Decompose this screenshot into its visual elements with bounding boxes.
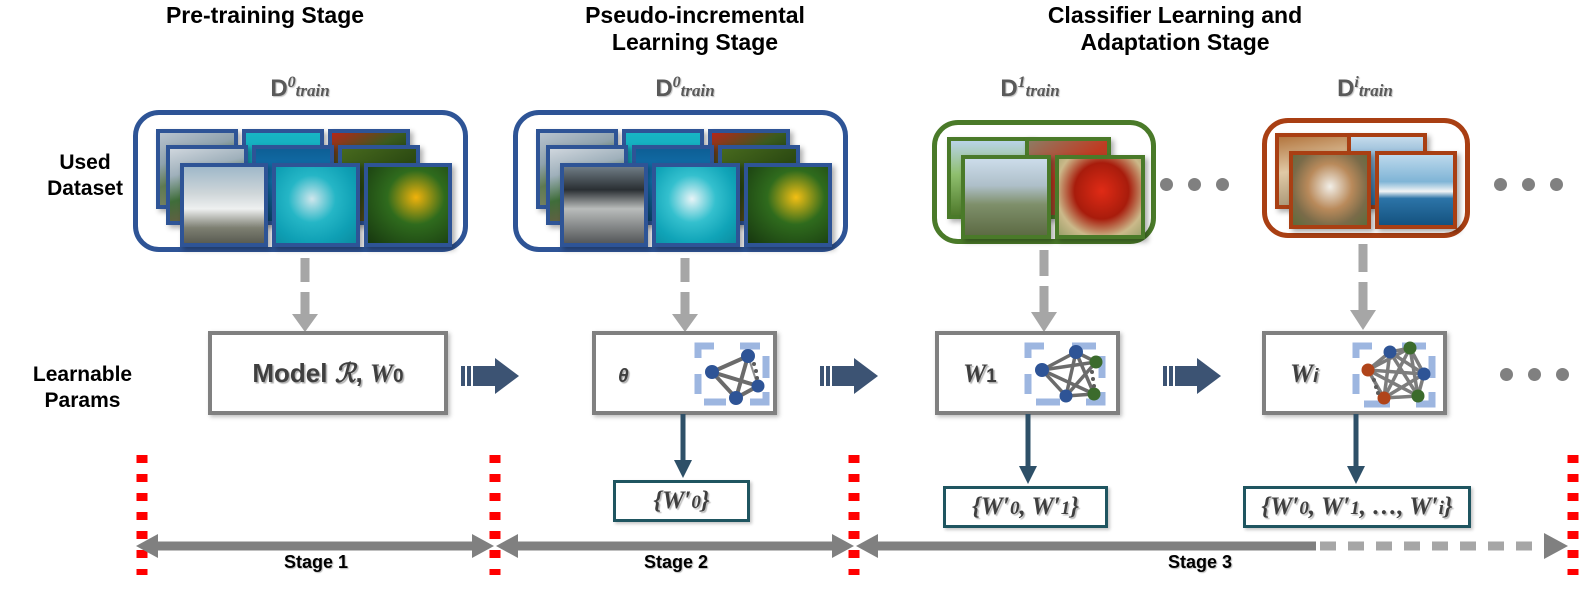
dataset-container-d0-pretrain[interactable] xyxy=(133,110,468,252)
output-arrow-3 xyxy=(1345,414,1367,486)
output-box-w0-set[interactable]: {W′0} xyxy=(613,480,750,522)
dot xyxy=(1216,178,1229,191)
ellipsis-dataset-mid xyxy=(1160,178,1229,191)
dot xyxy=(1494,178,1507,191)
row-label-line2: Params xyxy=(0,388,165,414)
output-arrow-2 xyxy=(1017,414,1039,486)
ellipsis-params-right xyxy=(1500,368,1569,381)
dataset-thumb-sailboat xyxy=(1375,151,1457,229)
dataset-label-di: Ditrain xyxy=(1300,74,1430,103)
param-box-wi-label: Wi xyxy=(1290,358,1318,389)
dataset-thumb-truck xyxy=(180,163,268,247)
graph-network-wi xyxy=(1348,334,1440,414)
dot xyxy=(1550,178,1563,191)
stage-title-line1: Pseudo-incremental xyxy=(505,2,885,29)
timeline-label-stage-1: Stage 1 xyxy=(216,552,416,573)
ellipsis-dataset-right xyxy=(1494,178,1563,191)
dot xyxy=(1528,368,1541,381)
param-box-model-label: Model ℛ, W0 xyxy=(252,358,403,389)
dataset-subscript: train xyxy=(1026,81,1060,100)
flow-arrow-dataset-to-model-2 xyxy=(670,256,700,338)
graph-network-g-theta xyxy=(688,336,772,412)
output-box-w01-set-label: {W′0, W′1} xyxy=(972,493,1079,521)
row-label-line1: Learnable xyxy=(0,362,165,388)
dataset-superscript: 1 xyxy=(1018,74,1026,91)
dataset-subscript: train xyxy=(681,81,715,100)
dataset-thumb-dog xyxy=(1289,151,1371,229)
timeline-label-stage-3: Stage 3 xyxy=(1100,552,1300,573)
dot xyxy=(1556,368,1569,381)
dataset-superscript: 0 xyxy=(288,74,296,91)
dataset-symbol: D xyxy=(655,75,672,102)
dot xyxy=(1500,368,1513,381)
dataset-label-d1: D1train xyxy=(965,74,1095,103)
row-label-learnable-params: Learnable Params xyxy=(0,362,165,414)
dataset-subscript: train xyxy=(296,81,330,100)
dot xyxy=(1160,178,1173,191)
stage-title-classifier-adaptation: Classifier Learning and Adaptation Stage xyxy=(955,2,1395,56)
output-box-w0i-set[interactable]: {W′0, W′1, …, W′i} xyxy=(1243,486,1471,528)
dataset-symbol: D xyxy=(1337,75,1354,102)
transition-arrow-1[interactable] xyxy=(461,356,523,396)
stage-title-line2: Learning Stage xyxy=(505,29,885,56)
param-box-model[interactable]: Model ℛ, W0 xyxy=(208,331,448,415)
timeline-label-stage-2: Stage 2 xyxy=(576,552,776,573)
output-box-w01-set[interactable]: {W′0, W′1} xyxy=(943,486,1108,528)
stage-title-pseudo-incremental: Pseudo-incremental Learning Stage xyxy=(505,2,885,56)
dataset-symbol: D xyxy=(1000,75,1017,102)
dataset-thumb-toucan xyxy=(364,163,452,247)
dataset-container-di[interactable] xyxy=(1262,118,1470,238)
dot xyxy=(1522,178,1535,191)
graph-network-w1 xyxy=(1020,336,1110,412)
output-box-w0i-set-label: {W′0, W′1, …, W′i} xyxy=(1261,493,1452,521)
dataset-thumb-truck xyxy=(560,163,648,247)
output-arrow-1 xyxy=(672,414,694,480)
stage-title-pretraining: Pre-training Stage xyxy=(100,2,430,29)
transition-arrow-3[interactable] xyxy=(1163,356,1225,396)
dataset-label-d0-pseudo: D0train xyxy=(620,74,750,103)
dataset-thumb-manatee xyxy=(272,163,360,247)
param-box-w1-label: W1 xyxy=(963,358,997,389)
dataset-thumb-ladybug xyxy=(1055,155,1145,239)
stage-title-line1: Classifier Learning and xyxy=(955,2,1395,29)
dataset-superscript: 0 xyxy=(673,74,681,91)
output-box-w0-set-label: {W′0} xyxy=(653,487,709,515)
param-box-g-theta-label: 𝏂θ xyxy=(618,358,629,389)
flow-arrow-dataset-to-model-1 xyxy=(290,256,320,338)
transition-arrow-2[interactable] xyxy=(820,356,882,396)
flow-arrow-dataset-to-model-3 xyxy=(1029,248,1059,338)
dataset-symbol: D xyxy=(270,75,287,102)
dataset-thumb-tank xyxy=(961,155,1051,239)
dataset-subscript: train xyxy=(1359,81,1393,100)
flow-arrow-dataset-to-model-4 xyxy=(1348,242,1378,338)
dataset-container-d1[interactable] xyxy=(932,120,1156,244)
dataset-thumb-manatee xyxy=(652,163,740,247)
dataset-container-d0-pseudo[interactable] xyxy=(513,110,848,252)
stage-title-line2: Adaptation Stage xyxy=(955,29,1395,56)
dataset-thumb-toucan xyxy=(744,163,832,247)
dataset-label-d0-pretrain: D0train xyxy=(235,74,365,103)
dot xyxy=(1188,178,1201,191)
